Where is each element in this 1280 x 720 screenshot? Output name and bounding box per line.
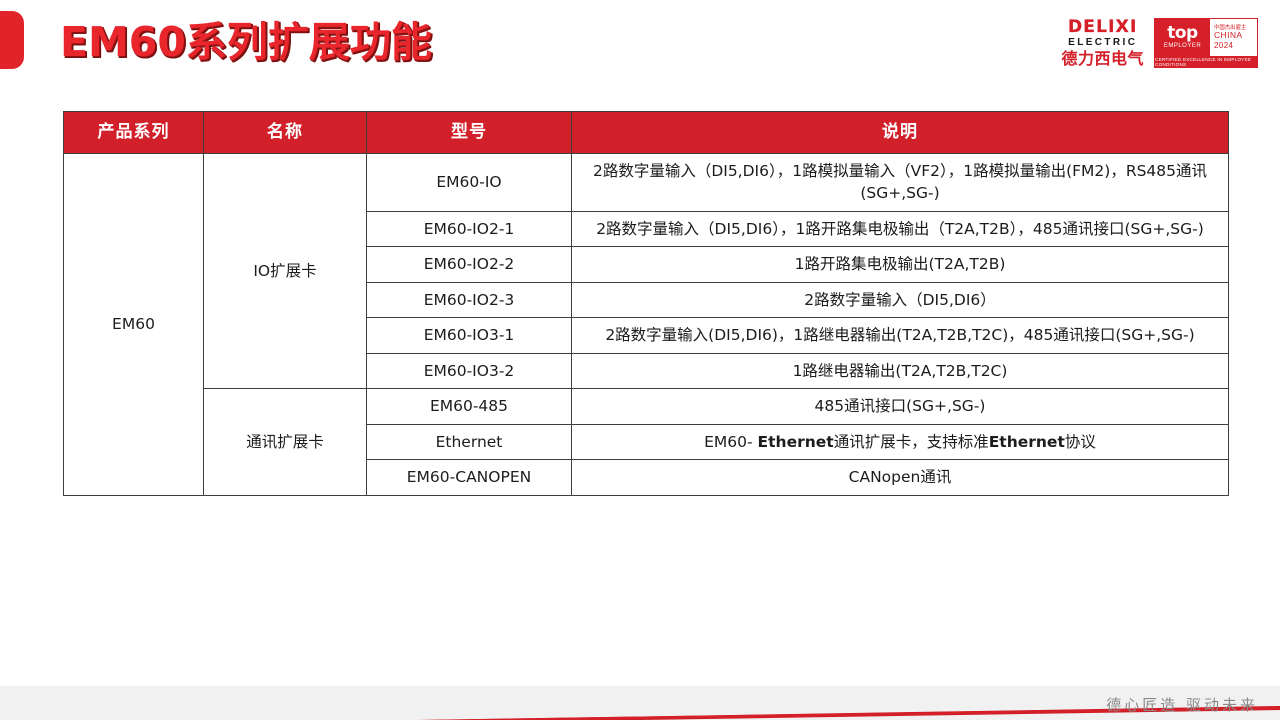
brand-subtitle-text: ELECTRIC	[1068, 38, 1137, 48]
footer-band	[0, 686, 1280, 720]
cell-description: 1路开路集电极输出(T2A,T2B)	[572, 247, 1229, 282]
cell-group-name-comm: 通讯扩展卡	[204, 389, 367, 495]
cell-product-series: EM60	[64, 154, 204, 496]
column-header-series: 产品系列	[64, 112, 204, 154]
page-title: EM60系列扩展功能	[60, 19, 432, 66]
top-employer-badge: top EMPLOYER 中国杰出雇主 CHINA 2024 CERTIFIED…	[1154, 18, 1258, 68]
cell-description: 2路数字量输入（DI5,DI6），1路开路集电极输出（T2A,T2B），485通…	[572, 211, 1229, 246]
cell-description: EM60- Ethernet通讯扩展卡，支持标准Ethernet协议	[572, 424, 1229, 459]
badge-country-text: CHINA	[1214, 31, 1257, 41]
badge-logo-block: top EMPLOYER	[1155, 19, 1210, 56]
cell-model: EM60-IO2-2	[367, 247, 572, 282]
cell-description: 485通讯接口(SG+,SG-)	[572, 389, 1229, 424]
cell-group-name-io: IO扩展卡	[204, 154, 367, 389]
cell-model: EM60-IO3-2	[367, 353, 572, 388]
cell-description: 1路继电器输出(T2A,T2B,T2C)	[572, 353, 1229, 388]
table-body: EM60 IO扩展卡 EM60-IO 2路数字量输入（DI5,DI6），1路模拟…	[64, 154, 1229, 496]
cell-description: CANopen通讯	[572, 460, 1229, 495]
badge-main: top EMPLOYER 中国杰出雇主 CHINA 2024	[1155, 19, 1257, 56]
cell-model: EM60-IO	[367, 154, 572, 212]
delixi-logo: DELIXI ELECTRIC 德力西电气	[1061, 19, 1144, 67]
brand-name-text: DELIXI	[1068, 19, 1138, 36]
table-row: EM60 IO扩展卡 EM60-IO 2路数字量输入（DI5,DI6），1路模拟…	[64, 154, 1229, 212]
cell-description: 2路数字量输入（DI5,DI6）	[572, 282, 1229, 317]
expansion-spec-table: 产品系列 名称 型号 说明 EM60 IO扩展卡 EM60-IO 2路数字量输入…	[63, 111, 1229, 496]
badge-certification-text: CERTIFIED EXCELLENCE IN EMPLOYEE CONDITI…	[1155, 56, 1257, 67]
column-header-model: 型号	[367, 112, 572, 154]
left-red-tab-decoration	[0, 11, 24, 69]
cell-model: Ethernet	[367, 424, 572, 459]
cell-model: EM60-CANOPEN	[367, 460, 572, 495]
column-header-name: 名称	[204, 112, 367, 154]
table-header-row: 产品系列 名称 型号 说明	[64, 112, 1229, 154]
cell-description: 2路数字量输入（DI5,DI6），1路模拟量输入（VF2），1路模拟量输出(FM…	[572, 154, 1229, 212]
badge-year-text: 2024	[1214, 41, 1257, 50]
cell-description: 2路数字量输入(DI5,DI6)，1路继电器输出(T2A,T2B,T2C)，48…	[572, 318, 1229, 353]
slide: EM60系列扩展功能 DELIXI ELECTRIC 德力西电气 top EMP…	[0, 0, 1280, 720]
badge-employer-text: EMPLOYER	[1164, 43, 1201, 49]
column-header-description: 说明	[572, 112, 1229, 154]
badge-info-block: 中国杰出雇主 CHINA 2024	[1210, 19, 1257, 56]
cell-model: EM60-IO2-1	[367, 211, 572, 246]
cell-model: EM60-IO2-3	[367, 282, 572, 317]
badge-top-text: top	[1167, 25, 1197, 42]
cell-model: EM60-IO3-1	[367, 318, 572, 353]
footer-slogan: 德心匠造 驱动未来	[1106, 694, 1258, 715]
brand-chinese-name-text: 德力西电气	[1061, 51, 1144, 67]
table-row: 通讯扩展卡 EM60-485 485通讯接口(SG+,SG-)	[64, 389, 1229, 424]
brand-logo-area: DELIXI ELECTRIC 德力西电气 top EMPLOYER 中国杰出雇…	[1061, 14, 1258, 72]
cell-model: EM60-485	[367, 389, 572, 424]
table-header: 产品系列 名称 型号 说明	[64, 112, 1229, 154]
